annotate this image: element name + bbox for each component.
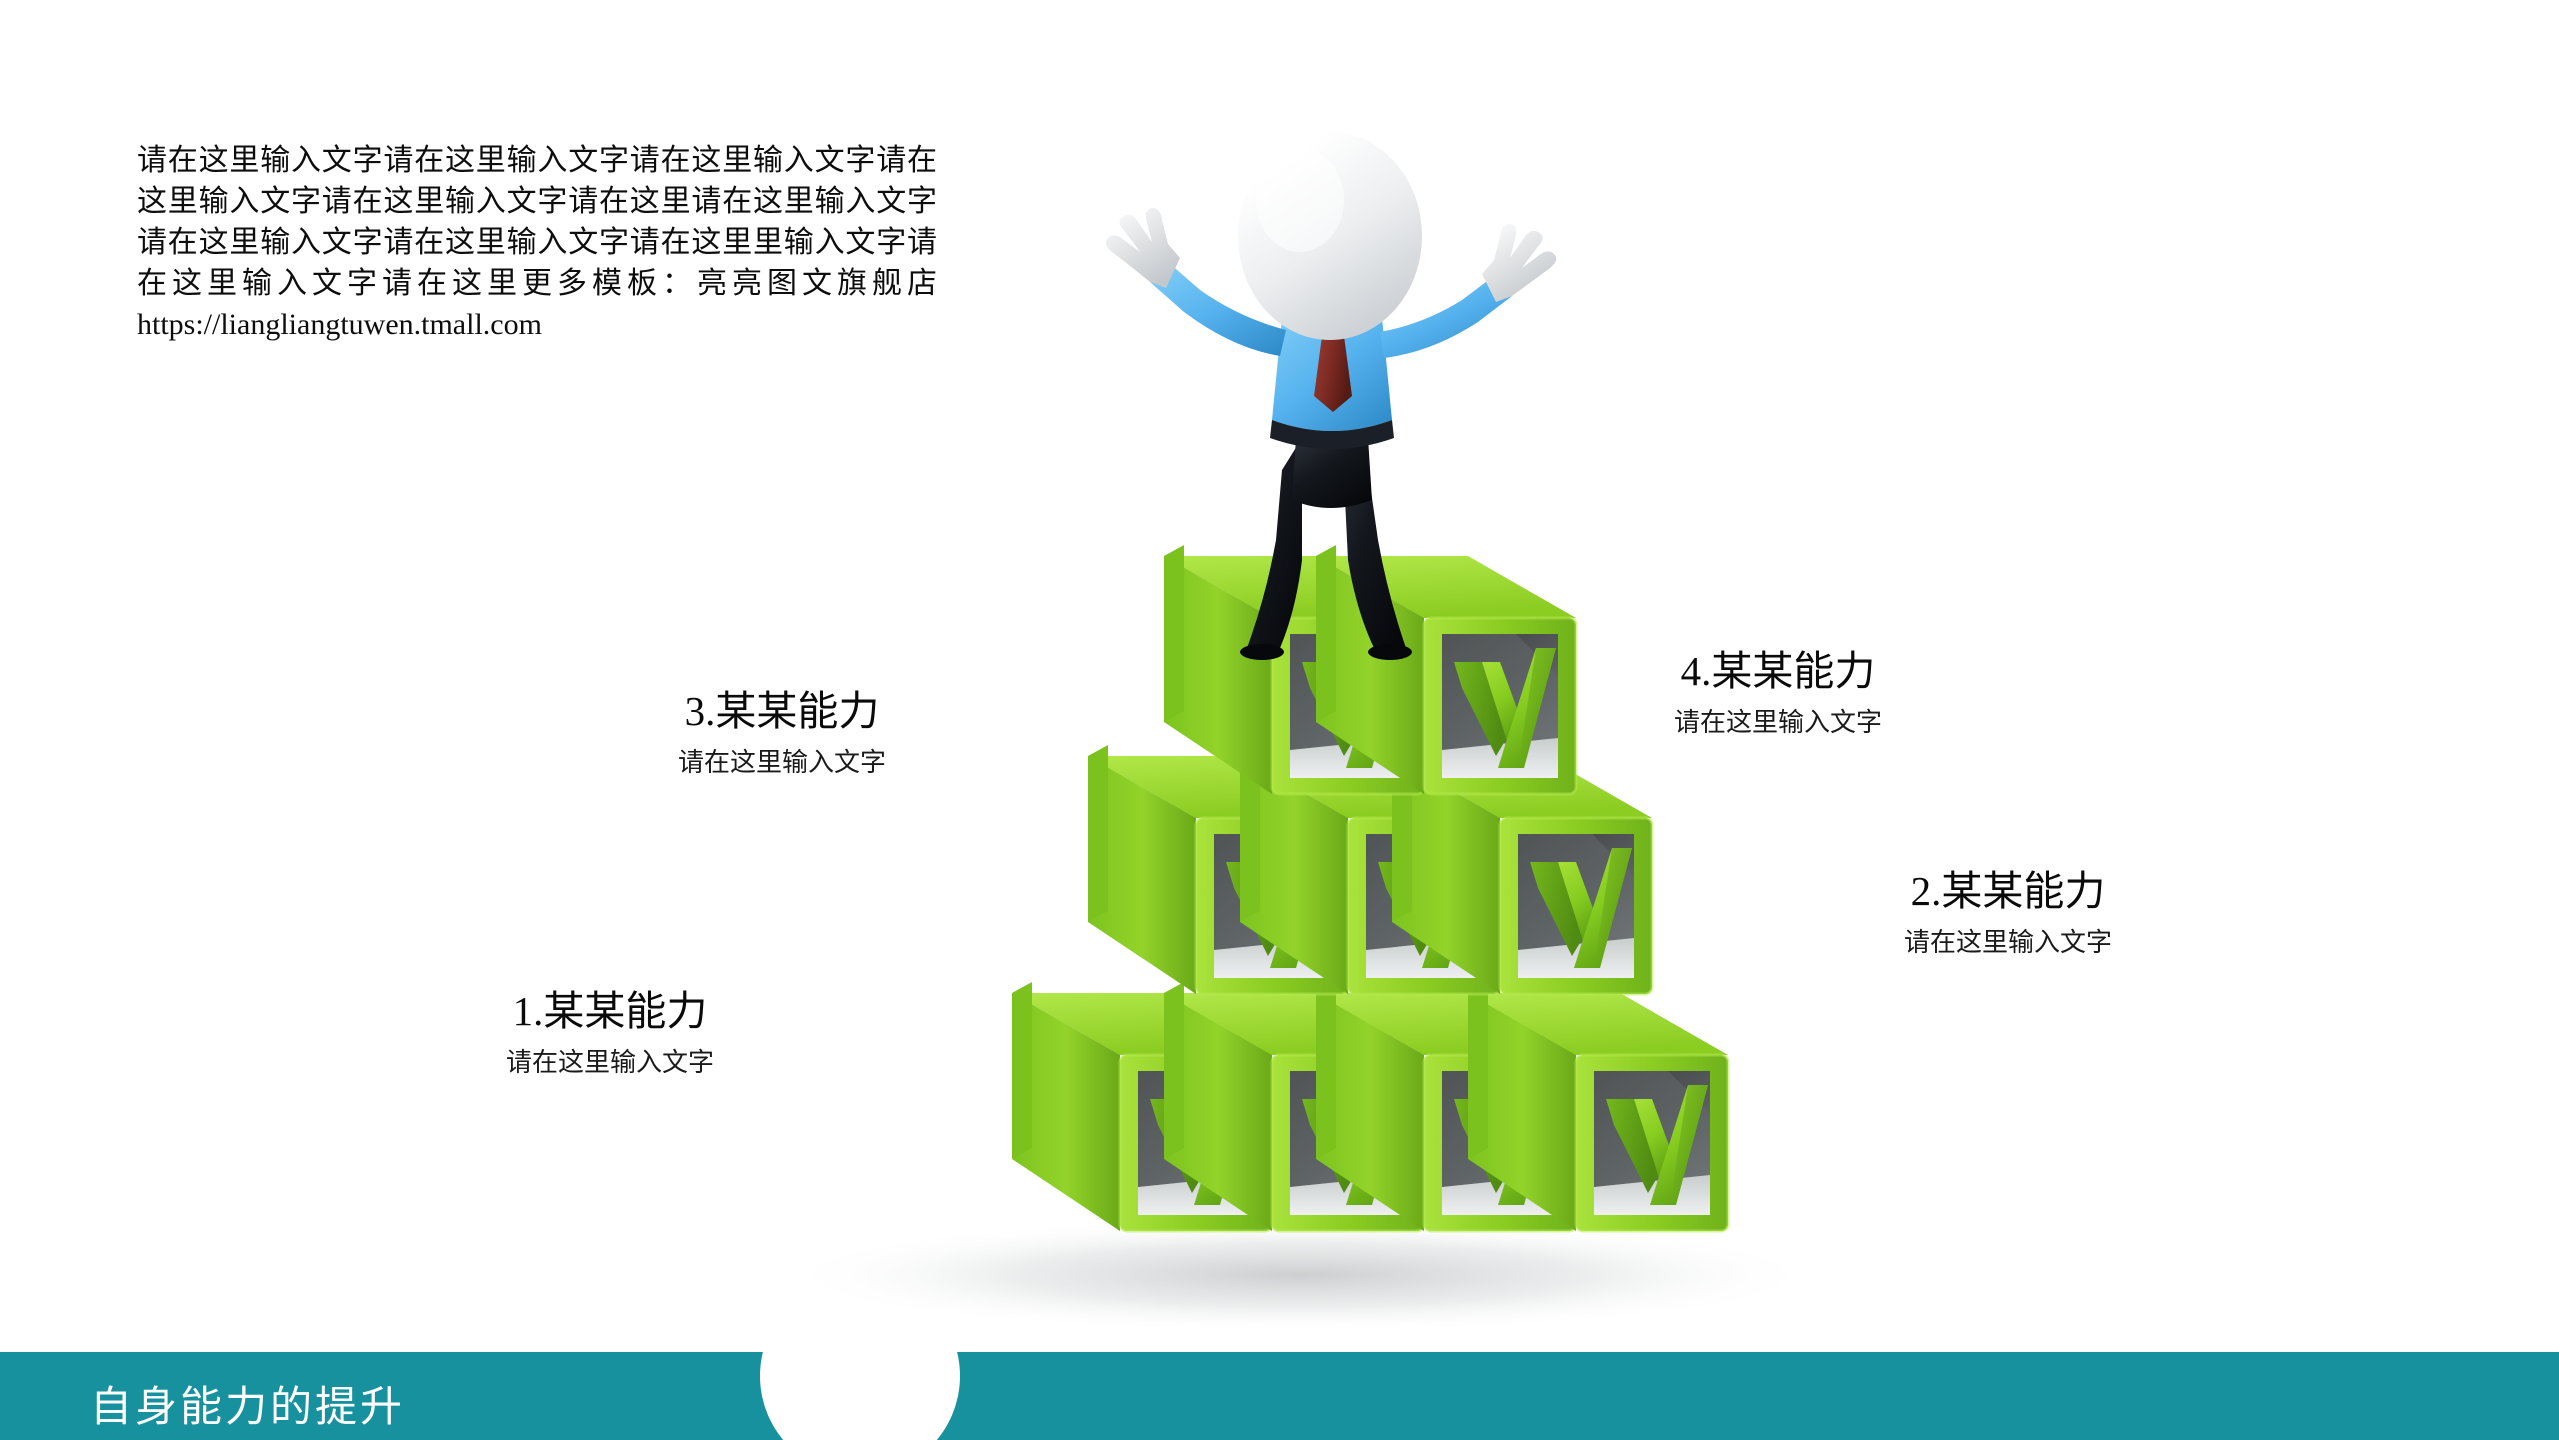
callout-4-subtitle: 请在这里输入文字 bbox=[1608, 707, 1948, 738]
callout-3-title: 3.某某能力 bbox=[612, 688, 952, 735]
callout-4: 4.某某能力 请在这里输入文字 bbox=[1608, 648, 1948, 738]
callout-3-subtitle: 请在这里输入文字 bbox=[612, 747, 952, 778]
callout-2-subtitle: 请在这里输入文字 bbox=[1838, 927, 2178, 958]
slide-canvas: 请在这里输入文字请在这里输入文字请在这里输入文字请在这里输入文字请在这里输入文字… bbox=[0, 0, 2559, 1440]
callout-3: 3.某某能力 请在这里输入文字 bbox=[612, 688, 952, 778]
callout-2-title: 2.某某能力 bbox=[1838, 868, 2178, 915]
footer-banner: 自身能力的提升 bbox=[0, 1352, 2559, 1440]
intro-paragraph: 请在这里输入文字请在这里输入文字请在这里输入文字请在这里输入文字请在这里输入文字… bbox=[137, 140, 937, 345]
callout-4-title: 4.某某能力 bbox=[1608, 648, 1948, 695]
banner-title: 自身能力的提升 bbox=[90, 1373, 405, 1434]
callout-1-title: 1.某某能力 bbox=[440, 988, 780, 1035]
callout-1: 1.某某能力 请在这里输入文字 bbox=[440, 988, 780, 1078]
callout-2: 2.某某能力 请在这里输入文字 bbox=[1838, 868, 2178, 958]
banner-notch-decoration bbox=[760, 1352, 960, 1440]
callout-1-subtitle: 请在这里输入文字 bbox=[440, 1047, 780, 1078]
